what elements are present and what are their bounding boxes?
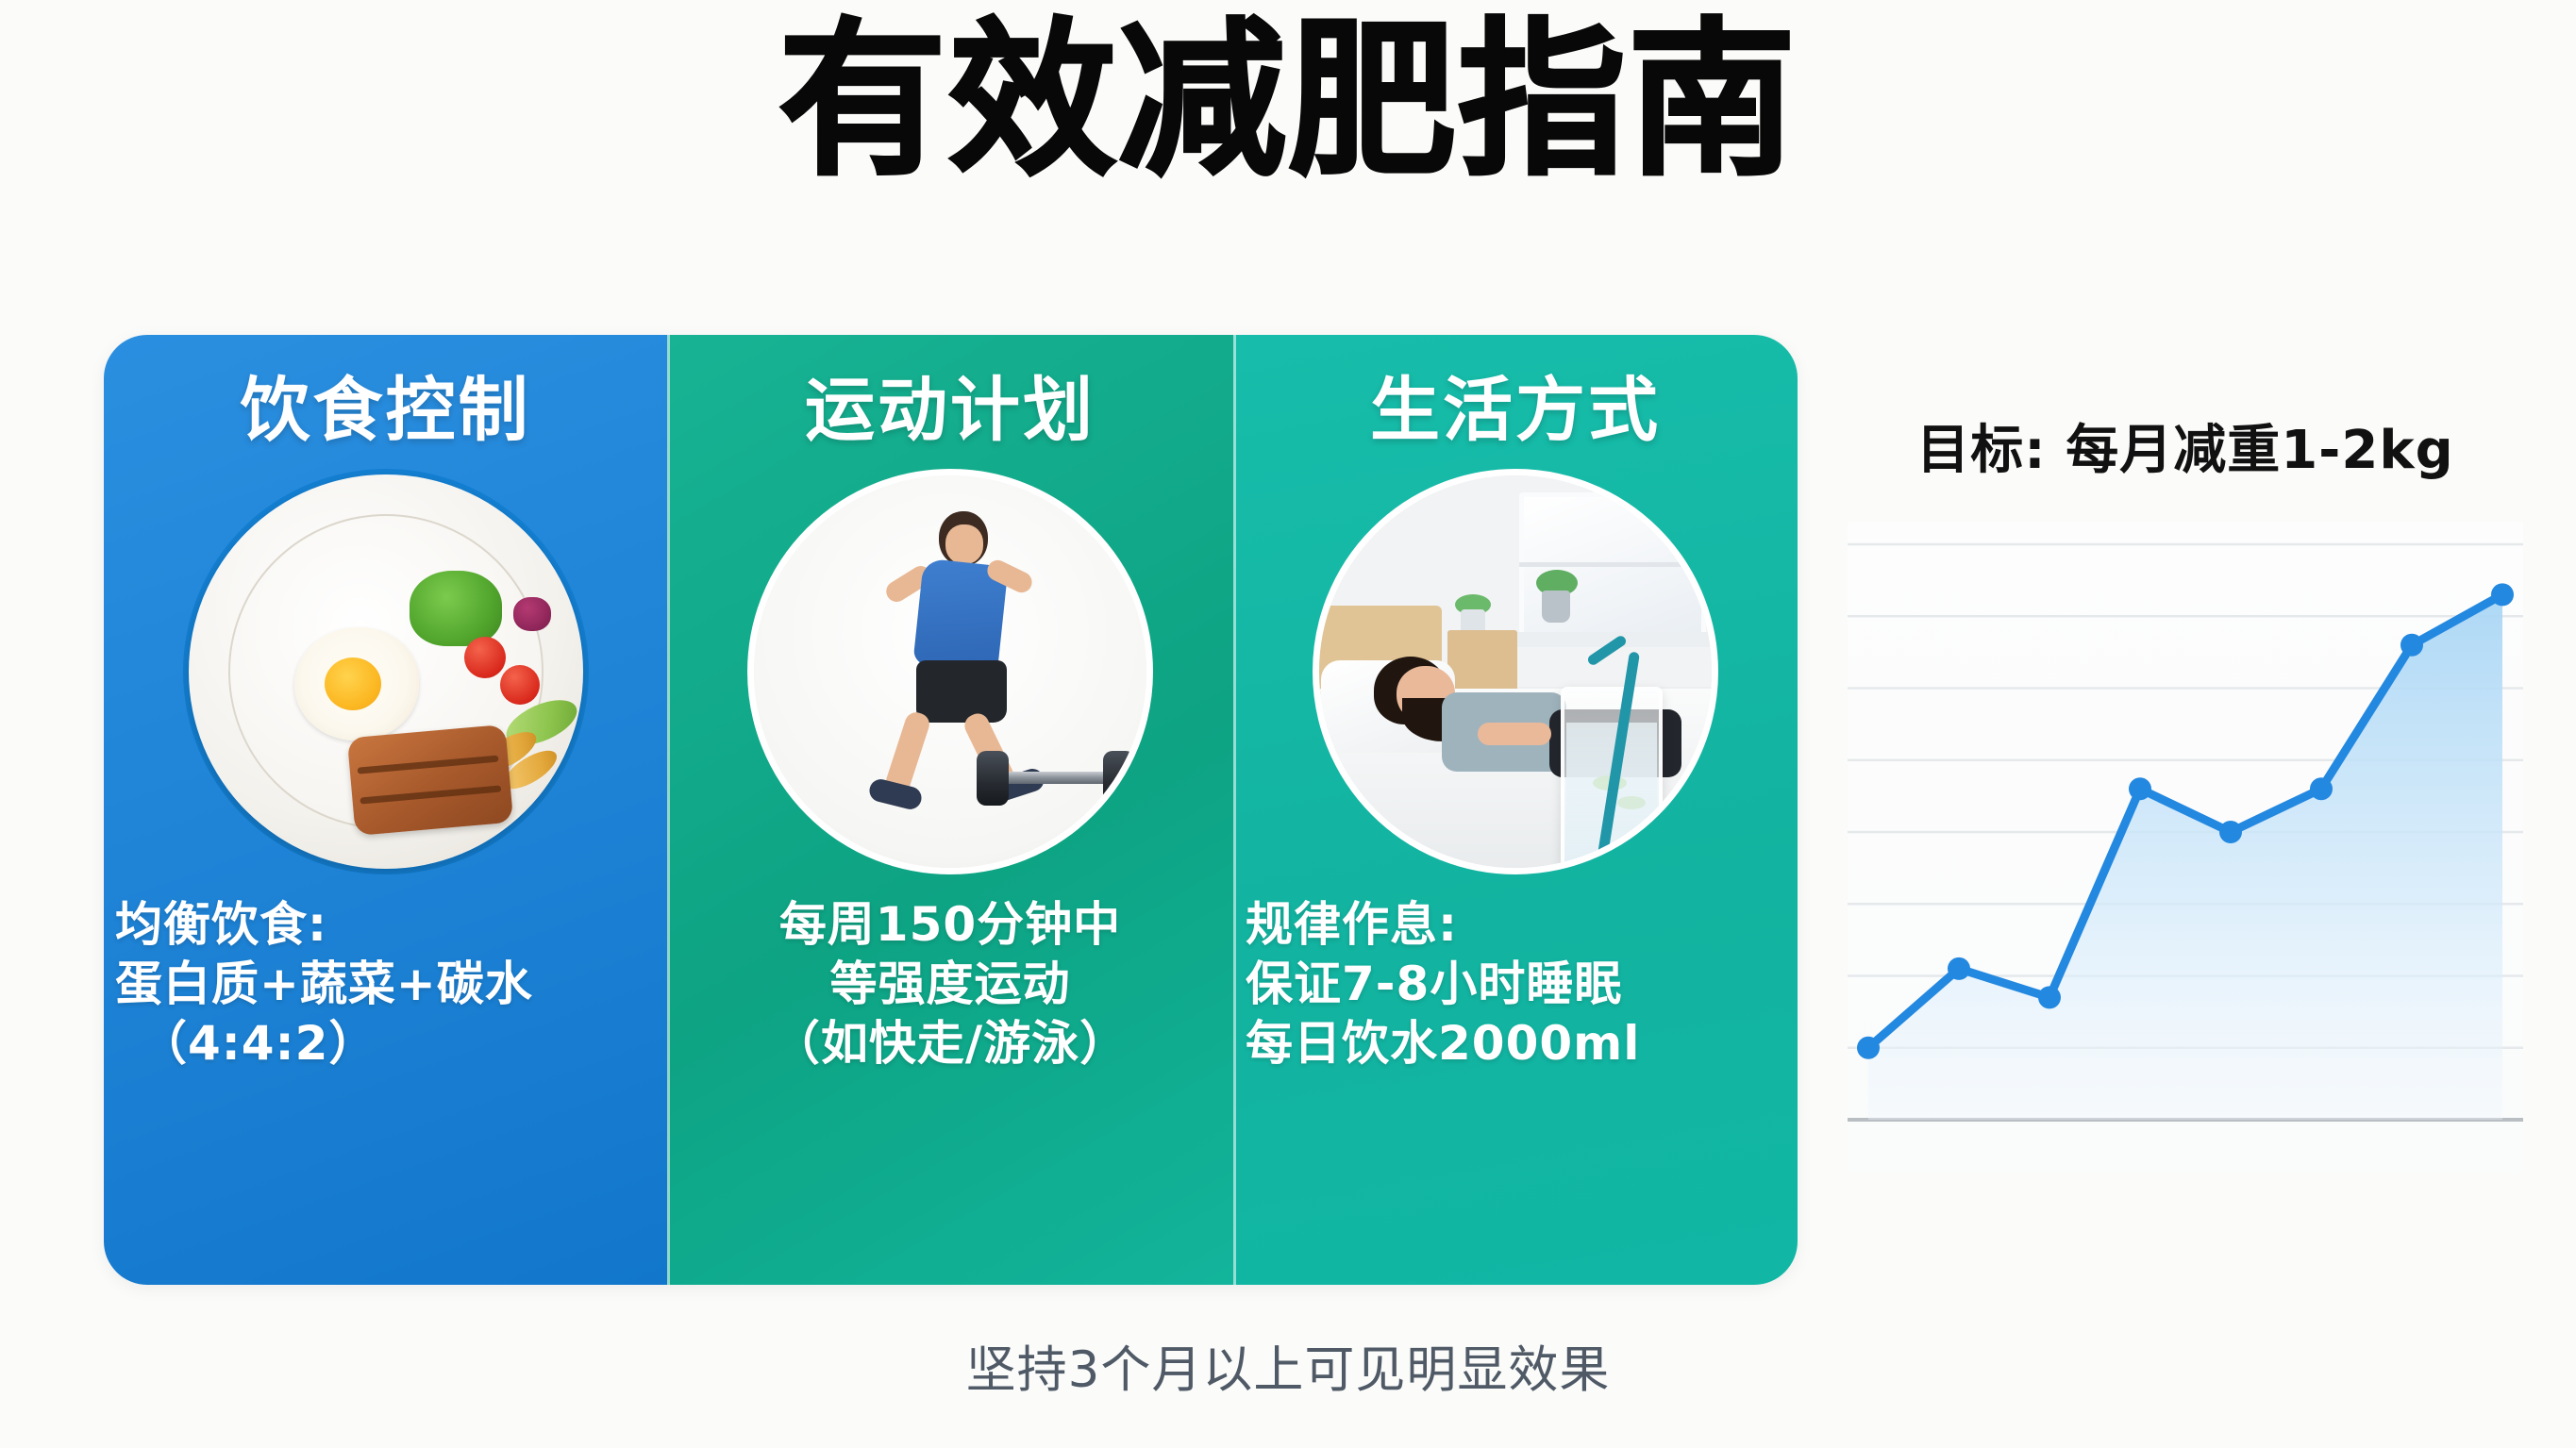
cherry-tomato-icon	[464, 637, 506, 678]
sleeping-woman-water-glass-photo	[1313, 469, 1718, 874]
dumbbell-weight	[977, 751, 1009, 806]
plant-pot-icon	[1542, 591, 1570, 623]
column-divider	[1233, 335, 1236, 1285]
card-body-lifestyle: 规律作息: 保证7-8小时睡眠 每日饮水2000ml	[1221, 895, 1798, 1074]
chart-data-point[interactable]	[2129, 777, 2151, 800]
chart-data-point[interactable]	[2219, 821, 2242, 843]
balanced-meal-plate-photo	[183, 469, 589, 874]
chart-plot-area[interactable]	[1848, 522, 2523, 1173]
dumbbell-bar	[992, 772, 1120, 784]
card-title-lifestyle: 生活方式	[1370, 374, 1661, 448]
dumbbell-weight	[1103, 751, 1135, 806]
chart-data-point[interactable]	[1857, 1037, 1880, 1059]
running-man-dumbbell-photo	[747, 469, 1153, 874]
card-column-lifestyle[interactable]: 生活方式	[1233, 335, 1798, 1285]
card-line: 蛋白质+蔬菜+碳水	[115, 955, 678, 1014]
card-body-exercise: 每周150分钟中 等强度运动 （如快走/游泳）	[667, 895, 1233, 1074]
card-column-diet[interactable]: 饮食控制 均衡饮食: 蛋白质+蔬菜+碳水 （4:4:2）	[104, 335, 667, 1285]
progress-chart-panel: 目标: 每月减重1-2kg	[1848, 408, 2523, 1228]
chart-data-point[interactable]	[2491, 583, 2514, 606]
runner-face	[945, 524, 983, 564]
card-body-diet: 均衡饮食: 蛋白质+蔬菜+碳水 （4:4:2）	[104, 895, 678, 1074]
chart-data-point[interactable]	[2038, 986, 2061, 1008]
chart-data-point[interactable]	[2310, 777, 2333, 800]
bedroom-scene-background	[1319, 475, 1712, 868]
card-line: （如快走/游泳）	[667, 1014, 1233, 1074]
window-mullion	[1519, 562, 1697, 567]
chart-data-point[interactable]	[2400, 634, 2423, 657]
card-title-diet: 饮食控制	[241, 374, 531, 448]
running-scene-background	[754, 475, 1146, 868]
card-line: 规律作息:	[1246, 895, 1798, 955]
footer-caption: 坚持3个月以上可见明显效果	[0, 1330, 2576, 1402]
card-title-exercise: 运动计划	[805, 374, 1096, 448]
card-line: （4:4:2）	[115, 1014, 678, 1074]
chart-area-fill	[1868, 594, 2502, 1120]
chart-title: 目标: 每月减重1-2kg	[1848, 408, 2523, 484]
card-column-exercise[interactable]: 运动计划 每周150分钟中 等强度运动 （如快走/游泳）	[667, 335, 1233, 1285]
plate-inner-face	[228, 514, 544, 829]
cherry-tomato-icon	[500, 665, 540, 705]
egg-yolk	[325, 657, 381, 710]
grilled-meat-icon	[346, 724, 512, 836]
chart-data-point[interactable]	[1948, 957, 1970, 980]
card-line: 均衡饮食:	[115, 895, 678, 955]
runner-left-shoe	[867, 776, 924, 811]
card-line: 等强度运动	[667, 955, 1233, 1014]
page-title: 有效减肥指南	[0, 17, 2576, 185]
column-divider	[667, 335, 670, 1285]
runner-shorts	[916, 660, 1007, 723]
beet-icon	[513, 597, 551, 631]
woman-arm	[1478, 723, 1551, 745]
card-line: 每日饮水2000ml	[1246, 1014, 1798, 1074]
card-line: 每周150分钟中	[667, 895, 1233, 955]
card-line: 保证7-8小时睡眠	[1246, 955, 1798, 1014]
line-chart-svg	[1848, 522, 2523, 1173]
broccoli-icon	[410, 571, 502, 646]
guide-card-group: 饮食控制 均衡饮食: 蛋白质+蔬菜+碳水 （4:4:2） 运动计划	[104, 335, 1798, 1285]
